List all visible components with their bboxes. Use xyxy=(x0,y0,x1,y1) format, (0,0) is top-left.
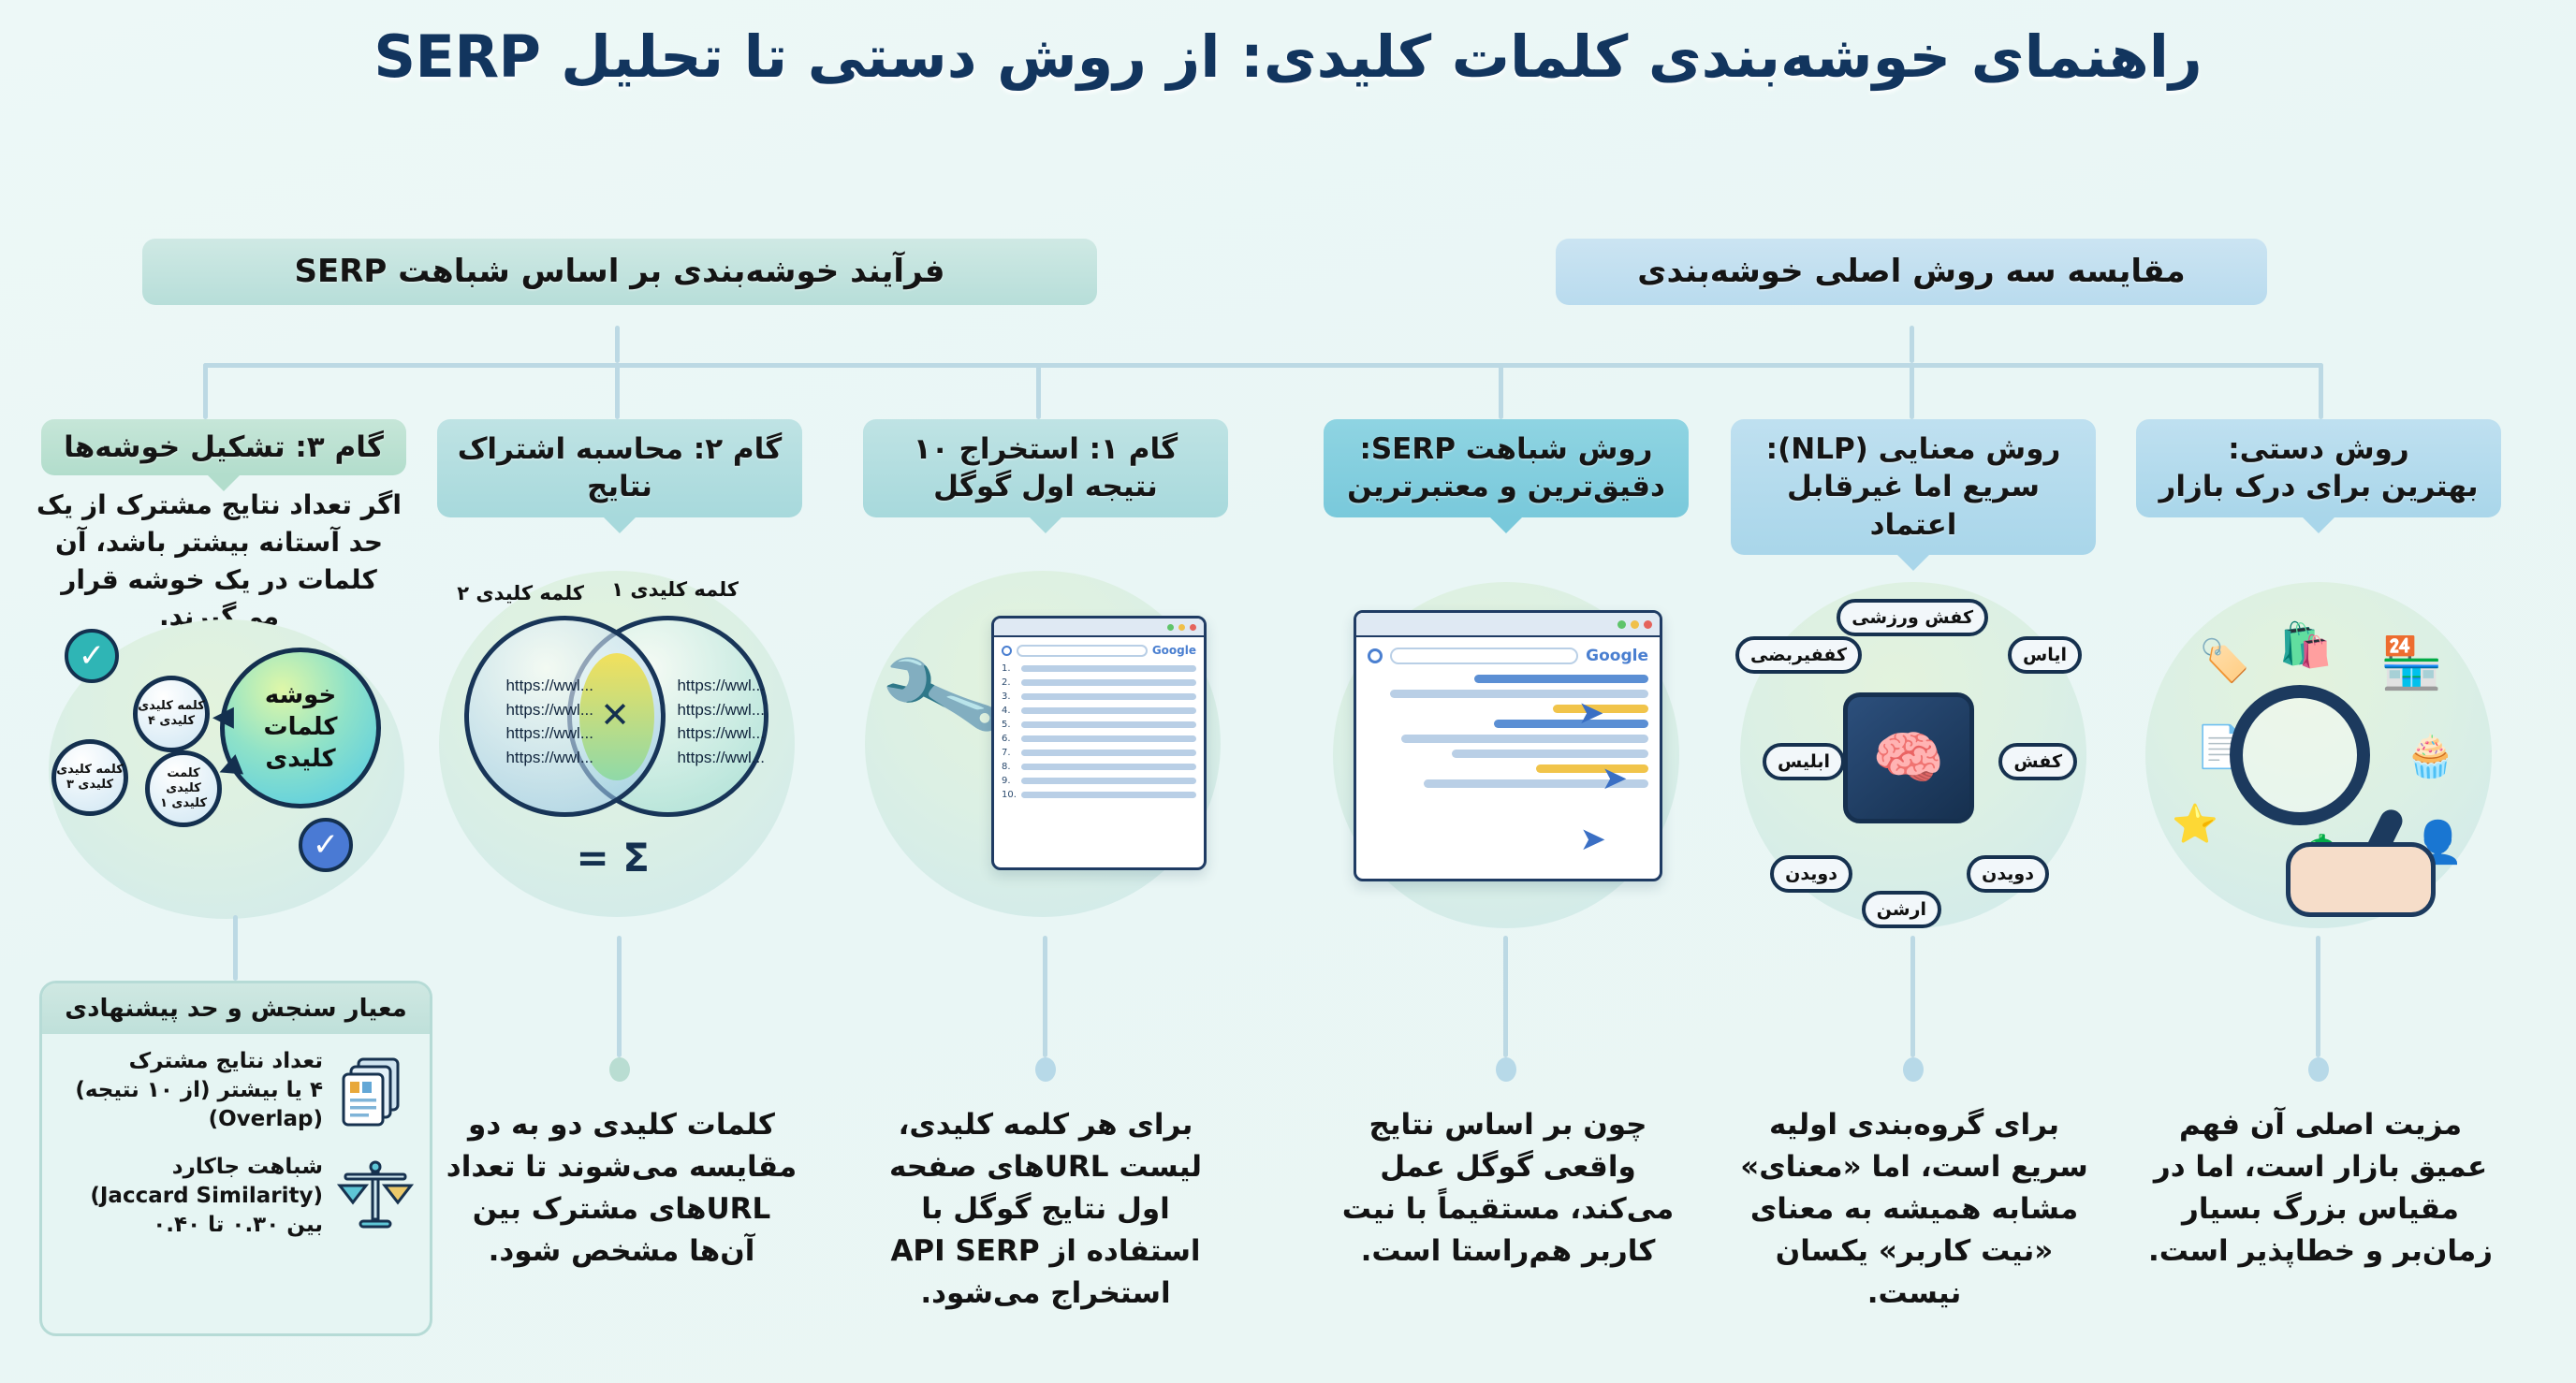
serp-result-bar xyxy=(1021,693,1196,700)
metric-row-overlap: تعداد نتایج مشترک۴ یا بیشتر (از ۱۰ نتیجه… xyxy=(42,1034,430,1140)
serp-result-row: 7. xyxy=(1002,748,1196,758)
storefront-icon: 🏪 xyxy=(2380,633,2443,693)
connector-left-branch-2 xyxy=(1910,363,1914,419)
cluster-arrow-icon: ◀ xyxy=(212,700,234,733)
stem-dot-nlp xyxy=(1903,1057,1924,1082)
stem-manual xyxy=(2316,936,2320,1057)
stem-step3 xyxy=(233,915,238,981)
serp-result-number: 8. xyxy=(1002,762,1017,772)
illustration-step2: کلمه کلیدی ۱ کلمه کلیدی ۲ ✕ https://wwl.… xyxy=(439,571,795,917)
cursor-icon: ➤ xyxy=(1580,821,1607,858)
stem-serp xyxy=(1503,936,1508,1057)
magnifier-icon xyxy=(2230,685,2370,825)
star-icon: ⭐ xyxy=(2172,802,2218,846)
panel-header-methods: مقایسه سه روش اصلی خوشه‌بندی xyxy=(1556,239,2267,305)
venn-url-item: https://wwl... xyxy=(677,674,765,698)
method-head-serp: روش شباهت SERP:دقیق‌ترین و معتبرترین xyxy=(1324,419,1689,517)
browser-dot-red xyxy=(1190,624,1196,631)
caption-step2: کلمات کلیدی دو به دو مقایسه می‌شوند تا ت… xyxy=(439,1104,804,1273)
step-3-description: اگر تعداد نتایج مشترک از یک حد آستانه بی… xyxy=(32,487,406,635)
search-box[interactable] xyxy=(1017,645,1148,657)
serp-result-number: 7. xyxy=(1002,748,1017,758)
caption-step1: برای هر کلمه کلیدی، لیست URLهای صفحه اول… xyxy=(863,1104,1228,1315)
venn-sum-symbol: Σ = xyxy=(576,835,650,881)
step-head-3-label: گام ۳: تشکیل خوشه‌ها xyxy=(64,430,384,464)
serp-result-bar xyxy=(1021,735,1196,742)
check-badge-teal: ✓ xyxy=(65,629,119,683)
serp-result-bar xyxy=(1021,764,1196,770)
browser-dot-yellow xyxy=(1631,620,1639,629)
brain-chip-icon: 🧠 xyxy=(1843,692,1974,823)
google-logo: Google xyxy=(1152,644,1196,657)
serp-result-number: 4. xyxy=(1002,706,1017,716)
serp-result-bar xyxy=(1021,665,1196,672)
mindmap-node-0: کفش ورزشی xyxy=(1837,599,1988,636)
stem-dot-serp xyxy=(1496,1057,1516,1082)
connector-right-bus xyxy=(203,363,1041,368)
browser-titlebar xyxy=(1356,613,1660,637)
serp-result-bar xyxy=(1021,707,1196,714)
venn-url-item: https://wwl... xyxy=(505,698,593,722)
search-icon[interactable] xyxy=(1002,646,1012,656)
scales-icon xyxy=(336,1157,415,1236)
illustration-manual: 🏪 🛍️ 🏷️ 🧁 📄 👤 ⭐ 💲 xyxy=(2145,582,2492,928)
cluster-node-0: کلمه کلیدیکلیدی ۴ xyxy=(133,676,210,752)
metrics-title: معیار سنجش و حد پیشنهادی xyxy=(42,983,430,1034)
stem-dot-step2 xyxy=(609,1057,630,1082)
search-icon[interactable] xyxy=(1368,648,1383,663)
search-box[interactable] xyxy=(1390,648,1578,664)
cluster-node-2: کلمت کلیدیکلیدی ۱ xyxy=(145,750,222,827)
serp-result-bar xyxy=(1021,721,1196,728)
venn-url-item: https://wwl... xyxy=(677,746,765,770)
venn-url-item: https://wwl... xyxy=(677,698,765,722)
step-head-2: گام ۲: محاسبه اشتراک نتایج xyxy=(437,419,802,517)
cluster-node-0-label: کلمه کلیدیکلیدی ۴ xyxy=(138,699,205,730)
serp-result-row: 4. xyxy=(1002,706,1196,716)
serp-result-number: 6. xyxy=(1002,734,1017,744)
serp-result-snippet xyxy=(1390,690,1648,698)
venn-url-item: https://wwl... xyxy=(505,674,593,698)
serp-result-row: 8. xyxy=(1002,762,1196,772)
serp-result-bar xyxy=(1021,792,1196,798)
method-head-serp-label: روش شباهت SERP:دقیق‌ترین و معتبرترین xyxy=(1347,432,1665,503)
serp-result-row: 1. xyxy=(1002,663,1196,674)
serp-result-row: 9. xyxy=(1002,776,1196,786)
illustration-step3: ✓ ✓ خوشهکلمات کلیدی کلمه کلیدیکلیدی ۴ کل… xyxy=(49,619,404,919)
serp-result-bar xyxy=(1021,778,1196,784)
mindmap-node-7: کففیربضی xyxy=(1735,636,1862,674)
step-head-3: گام ۳: تشکیل خوشه‌ها xyxy=(41,419,406,475)
venn-url-item: https://wwl... xyxy=(505,746,593,770)
serp-result-row: 6. xyxy=(1002,734,1196,744)
cursor-icon: ➤ xyxy=(1602,760,1629,797)
venn-label-right: کلمه کلیدی ۱ xyxy=(611,578,739,601)
browser-titlebar xyxy=(994,619,1204,637)
serp-result-row: 5. xyxy=(1002,720,1196,730)
illustration-nlp: 🧠 کفش ورزشی ایاس کفش دویدن ارشن دویدن اب… xyxy=(1740,582,2086,928)
venn-label-left: کلمه کلیدی ۲ xyxy=(457,582,584,604)
venn-urls-left: https://wwl...https://wwl...https://wwl.… xyxy=(505,674,593,769)
serp-result-title xyxy=(1474,675,1648,683)
connector-left-branch-3 xyxy=(1499,363,1503,419)
serp-result-number: 5. xyxy=(1002,720,1017,730)
venn-url-item: https://wwl... xyxy=(505,721,593,746)
stem-step1 xyxy=(1043,936,1047,1057)
connector-right-branch-3 xyxy=(203,363,208,419)
stem-step2 xyxy=(617,936,622,1057)
cluster-main-bubble: خوشهکلمات کلیدی xyxy=(220,648,381,808)
mindmap-node-2: کفش xyxy=(1998,743,2077,780)
metrics-box: معیار سنجش و حد پیشنهادی تعداد نتایج مشت… xyxy=(39,981,432,1336)
serp-result-number: 2. xyxy=(1002,677,1017,688)
connector-right-branch-1 xyxy=(1036,363,1041,419)
method-head-manual-label: روش دستی:بهترین برای درک بازار xyxy=(2159,432,2478,503)
method-head-nlp: روش معنایی (NLP):سریع اما غیرقابل اعتماد xyxy=(1731,419,2096,555)
stem-dot-manual xyxy=(2308,1057,2329,1082)
check-badge-blue: ✓ xyxy=(299,818,353,872)
serp-result-bar xyxy=(1021,679,1196,686)
connector-left-trunk xyxy=(1910,326,1914,363)
serp-result-number: 9. xyxy=(1002,776,1017,786)
price-tag-icon: 🏷️ xyxy=(2199,636,2250,685)
caption-serp: چون بر اساس نتایج واقعی گوگل عمل می‌کند،… xyxy=(1325,1104,1690,1273)
browser-dot-red xyxy=(1644,620,1652,629)
step-head-1-label: گام ۱: استخراج ۱۰ نتیجه اول گوگل xyxy=(914,432,1178,503)
serp-result-row: 3. xyxy=(1002,691,1196,702)
google-logo: Google xyxy=(1586,647,1648,665)
serp-result-row: 10. xyxy=(1002,790,1196,800)
connector-right-branch-2 xyxy=(615,363,620,419)
cluster-node-2-label: کلمت کلیدیکلیدی ۱ xyxy=(150,766,217,812)
serp-result-row: 2. xyxy=(1002,677,1196,688)
serp-result-snippet xyxy=(1452,750,1648,758)
method-head-nlp-label: روش معنایی (NLP):سریع اما غیرقابل اعتماد xyxy=(1766,432,2061,542)
illustration-serp: Google ➤ ➤ ➤ xyxy=(1333,582,1679,928)
cupcake-icon: 🧁 xyxy=(2405,732,2456,780)
mindmap-node-3: دویدن xyxy=(1967,855,2049,893)
stem-dot-step1 xyxy=(1035,1057,1056,1082)
metric-jaccard-text: شباهت جاکارد(Jaccard Similarity)بین ۰.۳۰… xyxy=(57,1153,323,1240)
mindmap-node-5: دویدن xyxy=(1770,855,1852,893)
mindmap-node-4: ارشن xyxy=(1862,891,1941,928)
browser-dot-green xyxy=(1617,620,1626,629)
venn-url-item: https://wwl... xyxy=(677,721,765,746)
cluster-main-label: خوشهکلمات کلیدی xyxy=(225,680,376,775)
method-head-manual: روش دستی:بهترین برای درک بازار xyxy=(2136,419,2501,517)
panel-header-process: فرآیند خوشه‌بندی بر اساس شباهت SERP xyxy=(142,239,1097,305)
serp-result-number: 10. xyxy=(1002,790,1017,800)
serp-highlight xyxy=(1536,764,1648,773)
shopping-bag-icon: 🛍️ xyxy=(2279,619,2333,671)
serp-result-snippet xyxy=(1401,735,1648,743)
step-head-2-label: گام ۲: محاسبه اشتراک نتایج xyxy=(458,432,783,503)
documents-icon xyxy=(336,1052,415,1130)
step1-browser-mock: Google 1.2.3.4.5.6.7.8.9.10. xyxy=(991,616,1207,870)
illustration-step1: 🔧 ◀ Google 1.2.3.4.5.6.7.8.9.10. xyxy=(865,571,1221,917)
serp-result-number: 3. xyxy=(1002,691,1017,702)
stem-nlp xyxy=(1910,936,1915,1057)
page-title: راهنمای خوشه‌بندی کلمات کلیدی: از روش دس… xyxy=(112,22,2464,91)
browser-dot-green xyxy=(1167,624,1174,631)
serp-result-number: 1. xyxy=(1002,663,1017,674)
infographic-canvas: راهنمای خوشه‌بندی کلمات کلیدی: از روش دس… xyxy=(0,0,2576,1383)
mindmap-node-1: ایاس xyxy=(2008,636,2082,674)
hand-icon xyxy=(2286,842,2436,917)
metric-row-jaccard: شباهت جاکارد(Jaccard Similarity)بین ۰.۳۰… xyxy=(42,1140,430,1245)
serp-result-bar xyxy=(1021,750,1196,756)
metric-overlap-text: تعداد نتایج مشترک۴ یا بیشتر (از ۱۰ نتیجه… xyxy=(57,1047,323,1134)
step-head-1: گام ۱: استخراج ۱۰ نتیجه اول گوگل xyxy=(863,419,1228,517)
connector-left-branch-1 xyxy=(2319,363,2323,419)
cluster-node-1: کلمه کلیدیکلیدی ۳ xyxy=(51,739,128,816)
cursor-icon: ➤ xyxy=(1578,694,1605,732)
caption-manual: مزیت اصلی آن فهم عمیق بازار است، اما در … xyxy=(2138,1104,2503,1273)
venn-urls-right: https://wwl...https://wwl...https://wwl.… xyxy=(677,674,765,769)
caption-nlp: برای گروه‌بندی اولیه سریع است، اما «معنا… xyxy=(1732,1104,2097,1315)
serp-browser-mock: Google xyxy=(1354,610,1662,881)
serp-result-title xyxy=(1494,720,1648,728)
serp-result-list: 1.2.3.4.5.6.7.8.9.10. xyxy=(1002,663,1196,800)
cluster-node-1-label: کلمه کلیدیکلیدی ۳ xyxy=(56,763,124,793)
venn-intersect-symbol: ✕ xyxy=(600,694,630,735)
mindmap-node-6: ابلیس xyxy=(1763,743,1845,780)
browser-dot-yellow xyxy=(1178,624,1185,631)
connector-right-trunk xyxy=(615,326,620,363)
